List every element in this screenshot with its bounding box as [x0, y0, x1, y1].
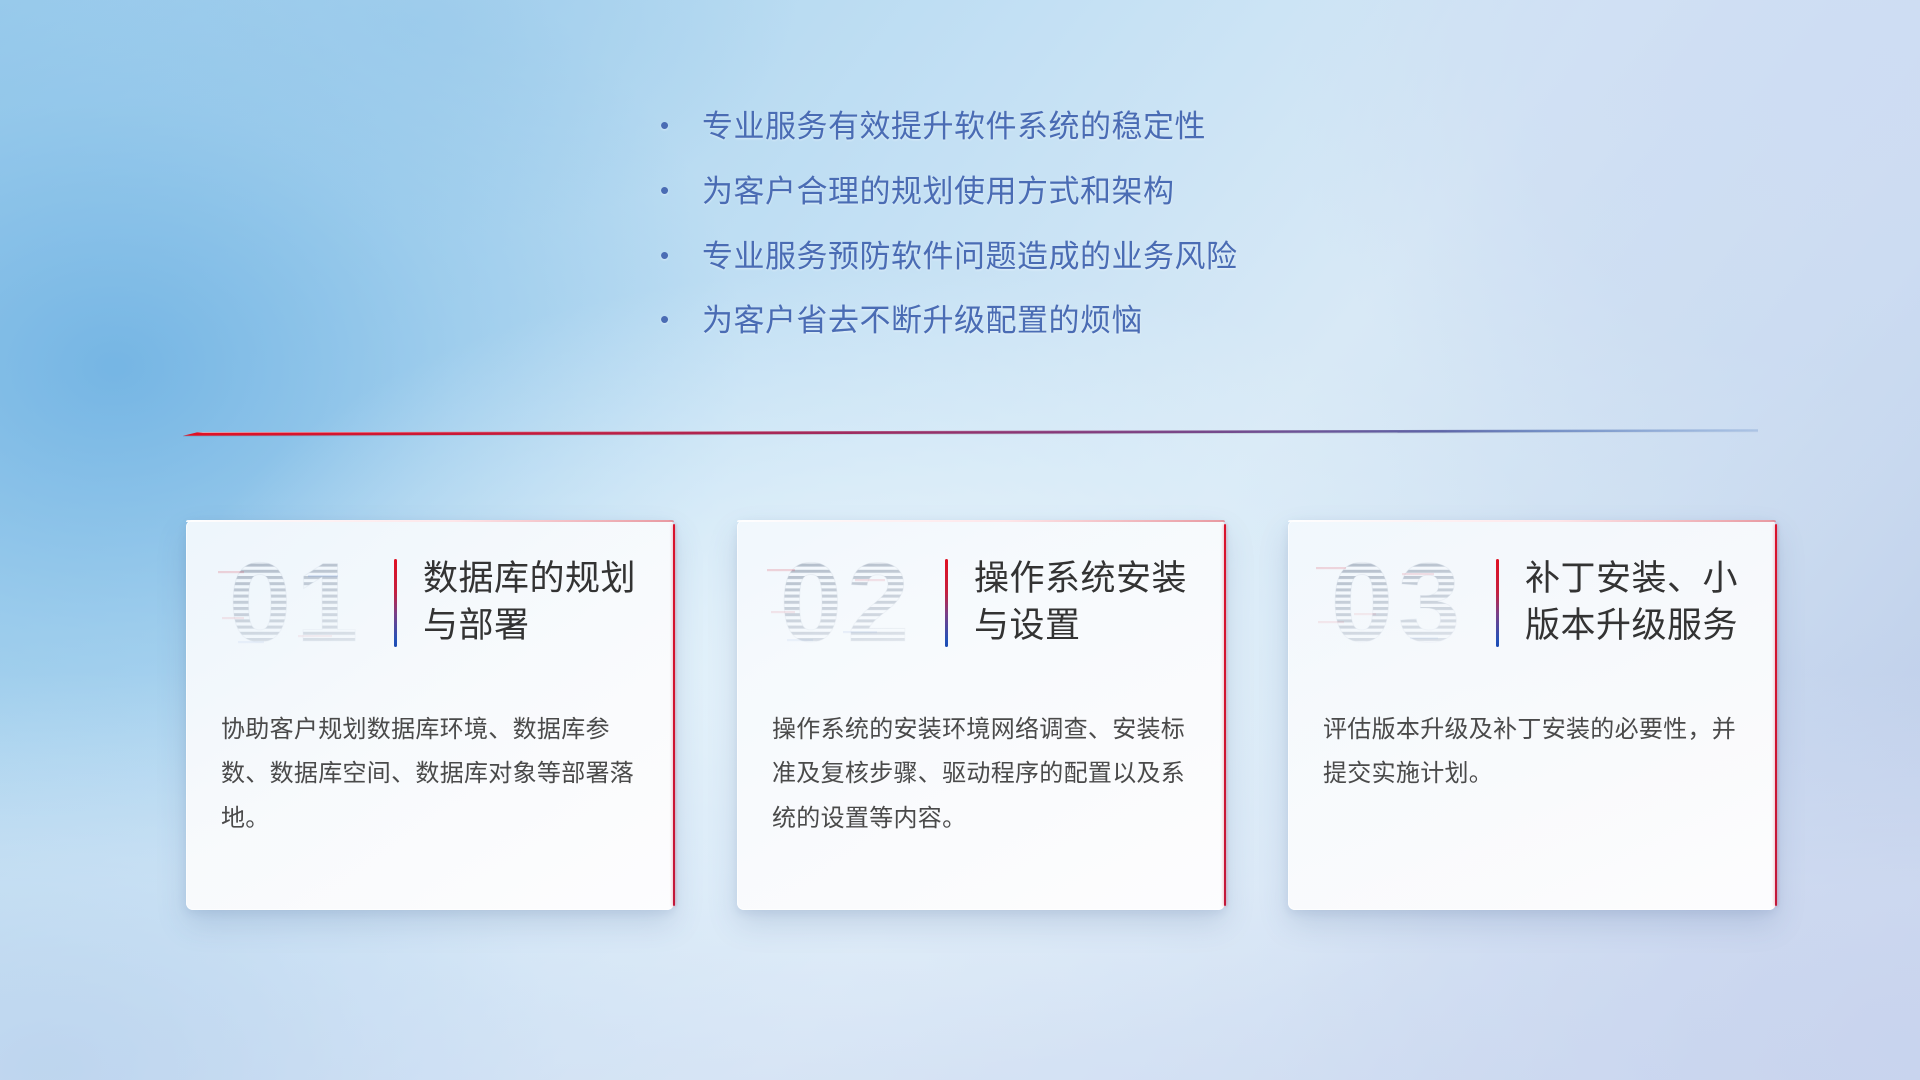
bullet-marker-icon: • — [660, 238, 702, 273]
card-title: 补丁安装、小版本升级服务 — [1525, 556, 1776, 648]
service-card[interactable]: 01 01 数据库的规划与部署 协助客户规划数据库环境、数据库参数、数据库空间、… — [186, 520, 674, 910]
bullet-text: 为客户省去不断升级配置的烦恼 — [702, 302, 1420, 341]
card-top-highlight — [186, 520, 674, 522]
bullet-marker-icon: • — [660, 108, 702, 143]
bullet-item: • 为客户合理的规划使用方式和架构 — [660, 173, 1420, 212]
bullet-text: 为客户合理的规划使用方式和架构 — [702, 173, 1420, 212]
card-accent-divider — [394, 559, 397, 647]
card-top-highlight — [737, 520, 1225, 522]
card-header: 01 01 数据库的规划与部署 — [186, 530, 674, 675]
card-title: 数据库的规划与部署 — [423, 556, 674, 648]
svg-text:01: 01 — [229, 545, 364, 661]
section-divider — [183, 424, 1758, 440]
card-header: 03 03 补丁安装、小版本升级服务 — [1288, 530, 1776, 675]
bullet-item: • 为客户省去不断升级配置的烦恼 — [660, 302, 1420, 341]
bullet-marker-icon: • — [660, 302, 702, 337]
card-accent-divider — [945, 559, 948, 647]
card-number-watermark: 02 02 — [763, 545, 931, 661]
card-accent-divider — [1496, 559, 1499, 647]
bullet-text: 专业服务预防软件问题造成的业务风险 — [702, 238, 1420, 277]
card-body-text: 操作系统的安装环境网络调查、安装标准及复核步骤、驱动程序的配置以及系统的设置等内… — [772, 708, 1191, 841]
card-body-text: 协助客户规划数据库环境、数据库参数、数据库空间、数据库对象等部署落地。 — [221, 708, 640, 841]
service-cards-row: 01 01 数据库的规划与部署 协助客户规划数据库环境、数据库参数、数据库空间、… — [186, 520, 1776, 910]
service-card[interactable]: 03 03 补丁安装、小版本升级服务 评估版本升级及补丁安装的必要性，并提交实施… — [1288, 520, 1776, 910]
card-title: 操作系统安装与设置 — [974, 556, 1225, 648]
bullet-item: • 专业服务有效提升软件系统的稳定性 — [660, 108, 1420, 147]
card-top-highlight — [1288, 520, 1776, 522]
bullet-item: • 专业服务预防软件问题造成的业务风险 — [660, 238, 1420, 277]
svg-text:02: 02 — [780, 545, 915, 661]
card-number-watermark: 03 03 — [1314, 545, 1482, 661]
benefits-bullet-list: • 专业服务有效提升软件系统的稳定性 • 为客户合理的规划使用方式和架构 • 专… — [660, 108, 1420, 367]
bullet-marker-icon: • — [660, 173, 702, 208]
card-header: 02 02 操作系统安装与设置 — [737, 530, 1225, 675]
card-body-text: 评估版本升级及补丁安装的必要性，并提交实施计划。 — [1323, 708, 1742, 797]
service-card[interactable]: 02 02 操作系统安装与设置 操作系统的安装环境网络调查、安装标准及复核步骤、… — [737, 520, 1225, 910]
svg-text:03: 03 — [1331, 545, 1466, 661]
card-number-watermark: 01 01 — [212, 545, 380, 661]
bullet-text: 专业服务有效提升软件系统的稳定性 — [702, 108, 1420, 147]
